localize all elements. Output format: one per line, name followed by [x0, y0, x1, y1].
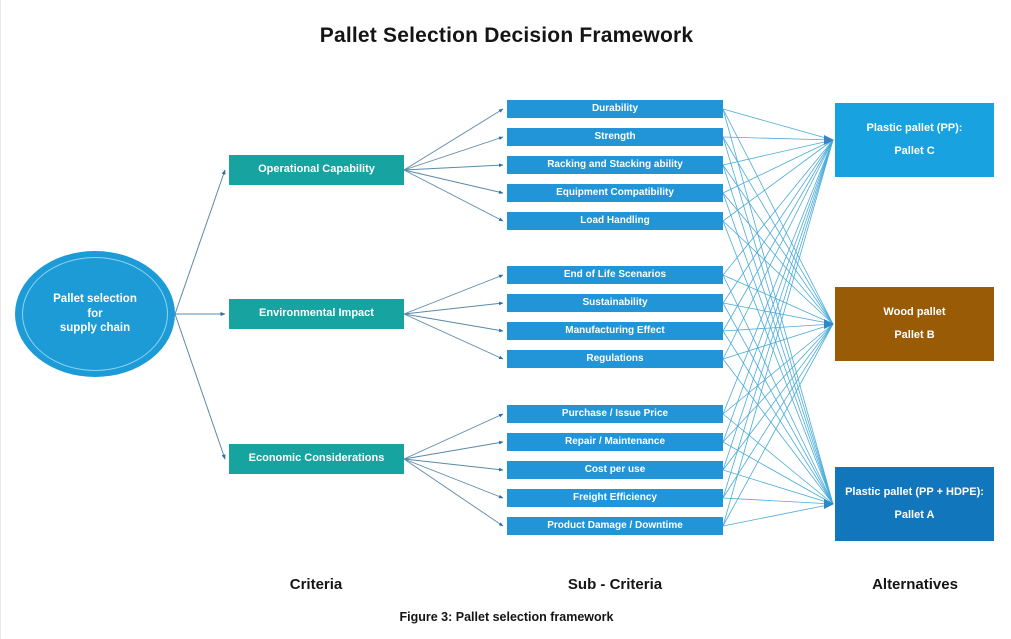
sub-criteria-label: Purchase / Issue Price [562, 408, 668, 421]
sub-criteria-label: Cost per use [585, 464, 646, 477]
criteria-node-environmental-impact[interactable]: Environmental Impact [229, 299, 404, 329]
sub-criteria-node[interactable]: Purchase / Issue Price [507, 405, 723, 423]
sub-criteria-node[interactable]: Cost per use [507, 461, 723, 479]
sub-criteria-label: Load Handling [580, 215, 649, 228]
column-label-alternatives: Alternatives [825, 576, 1005, 593]
sub-criteria-label: Freight Efficiency [573, 492, 657, 505]
goal-label-line3: supply chain [60, 321, 130, 335]
alternative-node-pallet-a[interactable]: Plastic pallet (PP + HDPE): Pallet A [835, 467, 994, 541]
criteria-node-economic-considerations[interactable]: Economic Considerations [229, 444, 404, 474]
alternative-node-pallet-c[interactable]: Plastic pallet (PP): Pallet C [835, 103, 994, 177]
criteria-node-operational-capability[interactable]: Operational Capability [229, 155, 404, 185]
goal-label-line2: for [87, 307, 102, 321]
column-label-sub-criteria: Sub - Criteria [525, 576, 705, 593]
sub-criteria-label: Product Damage / Downtime [547, 520, 683, 533]
sub-criteria-node[interactable]: Load Handling [507, 212, 723, 230]
alternative-label-line2: Pallet C [894, 145, 934, 159]
sub-criteria-node[interactable]: Repair / Maintenance [507, 433, 723, 451]
criteria-to-subcriteria-connectors [404, 109, 503, 526]
alternative-label-line1: Plastic pallet (PP): [867, 122, 963, 136]
sub-criteria-label: Racking and Stacking ability [547, 159, 683, 172]
figure-caption: Figure 3: Pallet selection framework [1, 610, 1011, 624]
sub-criteria-node[interactable]: Manufacturing Effect [507, 322, 723, 340]
criteria-label: Environmental Impact [259, 307, 374, 321]
sub-criteria-label: Durability [592, 103, 638, 116]
goal-label-line1: Pallet selection [53, 292, 137, 306]
sub-criteria-node[interactable]: Regulations [507, 350, 723, 368]
alternative-arrowheads [824, 135, 834, 509]
sub-criteria-label: Equipment Compatibility [556, 187, 674, 200]
sub-criteria-label: End of Life Scenarios [564, 269, 666, 282]
criteria-label: Operational Capability [258, 163, 375, 177]
figure-canvas: Pallet Selection Decision Framework Pall… [0, 0, 1011, 639]
sub-criteria-label: Sustainability [582, 297, 647, 310]
subcriteria-to-alternative-connectors [723, 109, 833, 526]
sub-criteria-node[interactable]: Strength [507, 128, 723, 146]
alternative-label-line2: Pallet B [894, 329, 934, 343]
sub-criteria-node[interactable]: Equipment Compatibility [507, 184, 723, 202]
alternative-label-line1: Wood pallet [883, 306, 945, 320]
sub-criteria-label: Manufacturing Effect [565, 325, 664, 338]
sub-criteria-node[interactable]: End of Life Scenarios [507, 266, 723, 284]
sub-criteria-node[interactable]: Racking and Stacking ability [507, 156, 723, 174]
sub-criteria-label: Repair / Maintenance [565, 436, 665, 449]
goal-node[interactable]: Pallet selection for supply chain [15, 251, 175, 377]
column-label-criteria: Criteria [226, 576, 406, 593]
sub-criteria-label: Regulations [586, 353, 643, 366]
alternative-label-line1: Plastic pallet (PP + HDPE): [845, 486, 984, 500]
sub-criteria-node[interactable]: Durability [507, 100, 723, 118]
sub-criteria-node[interactable]: Sustainability [507, 294, 723, 312]
alternative-node-pallet-b[interactable]: Wood pallet Pallet B [835, 287, 994, 361]
sub-criteria-node[interactable]: Freight Efficiency [507, 489, 723, 507]
sub-criteria-label: Strength [594, 131, 635, 144]
goal-to-criteria-connectors [175, 170, 225, 459]
sub-criteria-node[interactable]: Product Damage / Downtime [507, 517, 723, 535]
criteria-label: Economic Considerations [249, 452, 385, 466]
alternative-label-line2: Pallet A [895, 509, 935, 523]
